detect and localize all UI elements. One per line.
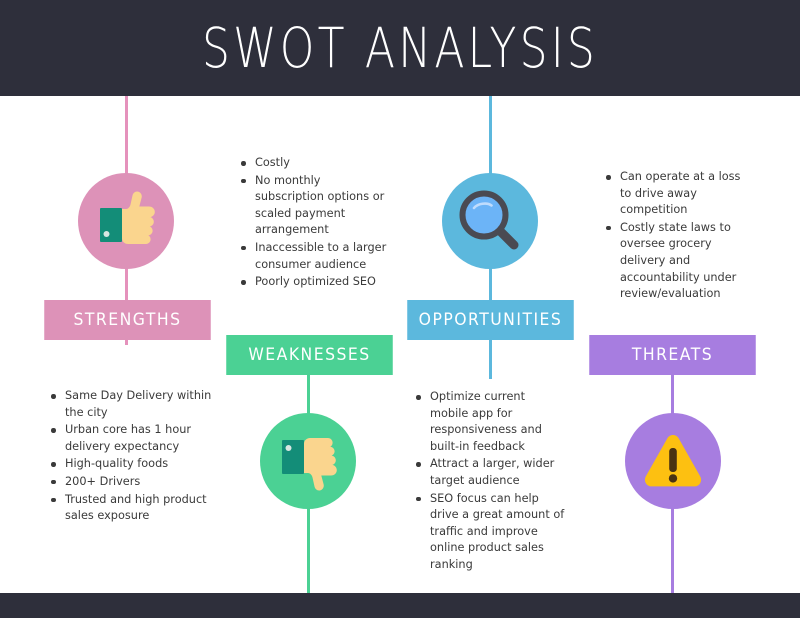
list-item: No monthly subscription options or scale…: [240, 173, 390, 239]
list-item: Poorly optimized SEO: [240, 274, 390, 291]
threats-icon-badge: [625, 413, 721, 509]
warning-triangle-icon: [625, 413, 721, 509]
list-item: Optimize current mobile app for responsi…: [415, 389, 565, 455]
list-item: Attract a larger, wider target audience: [415, 456, 565, 489]
category-bar-opportunities[interactable]: OPPORTUNITIES: [407, 300, 574, 340]
list-item: Costly: [240, 155, 390, 172]
strengths-icon-badge: [78, 173, 174, 269]
list-item: Can operate at a loss to drive away comp…: [605, 169, 753, 219]
category-bar-weaknesses[interactable]: WEAKNESSES: [226, 335, 393, 375]
list-item: Costly state laws to oversee grocery del…: [605, 220, 753, 303]
list-item: 200+ Drivers: [50, 474, 215, 491]
magnifying-glass-icon: [442, 173, 538, 269]
bullet-list-strengths: Same Day Delivery within the city Urban …: [50, 388, 215, 526]
footer-band: [0, 593, 800, 618]
bullet-list-weaknesses: Costly No monthly subscription options o…: [240, 155, 390, 292]
list-item: Urban core has 1 hour delivery expectanc…: [50, 422, 215, 455]
list-item: Same Day Delivery within the city: [50, 388, 215, 421]
category-bar-strengths[interactable]: STRENGTHS: [44, 300, 211, 340]
list-item: Inaccessible to a larger consumer audien…: [240, 240, 390, 273]
swot-analysis-infographic: SWOT ANALYSIS STRENGTHS Same Day Deliver…: [0, 0, 800, 618]
page-title: SWOT ANALYSIS: [80, 0, 720, 96]
opportunities-icon-badge: [442, 173, 538, 269]
thumbs-up-icon: [78, 173, 174, 269]
list-item: Trusted and high product sales exposure: [50, 492, 215, 525]
thumbs-down-icon: [260, 413, 356, 509]
bullet-list-opportunities: Optimize current mobile app for responsi…: [415, 389, 565, 575]
list-item: SEO focus can help drive a great amount …: [415, 491, 565, 574]
bullet-list-threats: Can operate at a loss to drive away comp…: [605, 169, 753, 304]
weaknesses-icon-badge: [260, 413, 356, 509]
category-bar-threats[interactable]: THREATS: [589, 335, 756, 375]
list-item: High-quality foods: [50, 456, 215, 473]
